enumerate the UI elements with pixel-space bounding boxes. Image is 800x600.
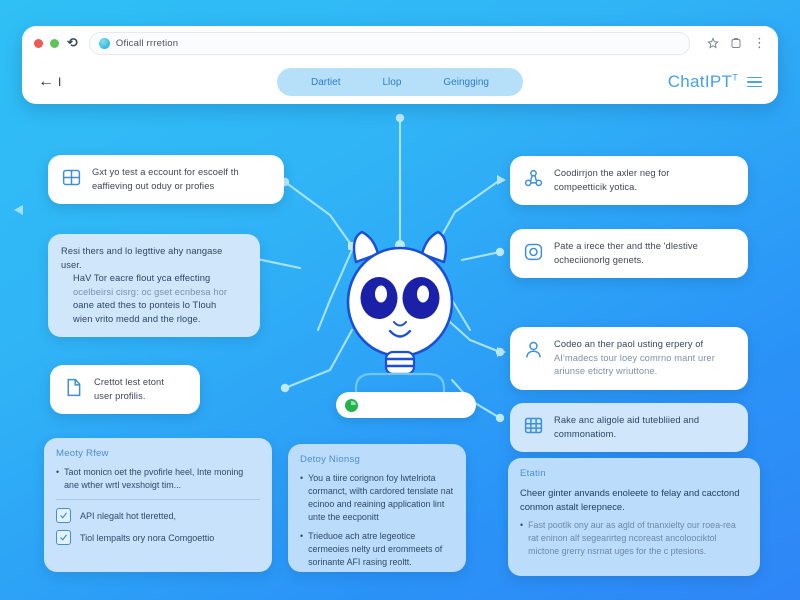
card-line: Codeo an ther paol usting erpery of <box>554 338 735 352</box>
panel-bullet: • Trieduoe ach atre legeotice cermeoies … <box>300 530 454 569</box>
card-subline: wien vrito medd and the rloge. <box>73 313 247 327</box>
card-line: compeetticik yotica. <box>554 181 735 195</box>
window-maximize-button[interactable] <box>50 39 59 48</box>
panel-bullet: • Fast pootlk ony aur as agld of tnanxie… <box>520 519 748 558</box>
bullet-text: Trieduoe ach atre legeotice cermeoies ne… <box>308 530 454 569</box>
panel-header: Detoy Nionsg <box>300 454 454 465</box>
card-right-3[interactable]: Codeo an ther paol usting erpery of AI'm… <box>510 327 748 390</box>
card-subline: ariunse etictry wriuttone. <box>554 365 735 379</box>
card-line: eaffieving out oduy or profies <box>92 180 271 194</box>
card-right-1-body: Coodirrjon the axler neg for compeettici… <box>554 167 735 194</box>
card-line: Resi thers and lo legttive ahy nangase <box>61 245 247 259</box>
browser-window: ⟳ Oficall rrretion ⋮ ←I Dartiet <box>22 26 778 104</box>
panel-bullet: • Taot monicn oet the pvofirle heel, Int… <box>56 466 260 492</box>
green-status-icon <box>345 399 358 412</box>
tab-bar: Dartiet Llop Geingging <box>277 68 523 96</box>
document-page-icon <box>63 377 84 398</box>
app-toolbar: ←I Dartiet Llop Geingging ChatIPTT <box>22 60 778 104</box>
bookmark-star-icon[interactable] <box>707 37 719 49</box>
card-line: Pate a irece ther and tthe 'dlestive <box>554 240 735 254</box>
panel-header: Meoty Rfew <box>56 448 260 459</box>
card-left-3-body: Crettot lest etont user profilis. <box>94 376 187 403</box>
bullet-text: Taot monicn oet the pvofirle heel, Inte … <box>64 466 260 492</box>
card-subline: AI'madecs tour loey comrno mant urer <box>554 352 735 366</box>
card-line: Coodirrjon the axler neg for <box>554 167 735 181</box>
card-right-1[interactable]: Coodirrjon the axler neg for compeettici… <box>510 156 748 205</box>
card-right-4[interactable]: Rake anc aligole aid tutebliied and comm… <box>510 403 748 452</box>
card-right-3-body: Codeo an ther paol usting erpery of AI'm… <box>554 338 735 379</box>
bullet-marker: • <box>56 466 59 492</box>
bullet-marker: • <box>300 530 303 569</box>
panel-strong-text: Cheer ginter anvands enoleete to felay a… <box>520 486 748 513</box>
card-line: Gxt yo test a eccount for escoelf th <box>92 166 271 180</box>
checkbox-checked-icon[interactable] <box>56 508 71 523</box>
network-nodes-icon <box>523 168 544 189</box>
address-bar[interactable]: Oficall rrretion <box>89 32 690 55</box>
window-close-button[interactable] <box>34 39 43 48</box>
back-button-label: I <box>58 75 61 89</box>
site-favicon <box>99 38 110 49</box>
card-subline: ocelbeirsi cisrg: oc gset ecnbesa hor <box>73 286 247 300</box>
card-line: Rake anc aligole aid tutebliied and <box>554 414 735 428</box>
tab-llop[interactable]: Llop <box>382 77 401 88</box>
infographic-stage: ⟳ Oficall rrretion ⋮ ←I Dartiet <box>0 0 800 600</box>
tab-geingging[interactable]: Geingging <box>443 77 489 88</box>
panel-memory-view[interactable]: Meoty Rfew • Taot monicn oet the pvofirl… <box>44 438 272 572</box>
brand-title: ChatIPTT <box>668 72 738 92</box>
card-subline: HaV Tor eacre flout yca effecting <box>73 272 247 286</box>
checkbox-checked-icon[interactable] <box>56 530 71 545</box>
card-left-1-body: Gxt yo test a eccount for escoelf th eaf… <box>92 166 271 193</box>
card-right-2-body: Pate a irece ther and tthe 'dlestive och… <box>554 240 735 267</box>
back-button[interactable]: ←I <box>38 73 61 91</box>
browser-chrome-bar: ⟳ Oficall rrretion ⋮ <box>22 26 778 60</box>
card-left-2-body: Resi thers and lo legttive ahy nangase u… <box>61 245 247 326</box>
card-right-4-body: Rake anc aligole aid tutebliied and comm… <box>554 414 735 441</box>
camera-icon <box>523 241 544 262</box>
address-bar-text: Oficall rrretion <box>116 38 178 49</box>
reload-icon[interactable]: ⟳ <box>67 35 78 51</box>
tab-dartiet[interactable]: Dartiet <box>311 77 340 88</box>
card-left-1[interactable]: Gxt yo test a eccount for escoelf th eaf… <box>48 155 284 204</box>
robot-mascot <box>310 218 490 418</box>
card-right-2[interactable]: Pate a irece ther and tthe 'dlestive och… <box>510 229 748 278</box>
card-line: user profilis. <box>94 390 187 404</box>
panel-divider <box>56 499 260 500</box>
card-line: user. <box>61 259 247 273</box>
card-line: Crettot lest etont <box>94 376 187 390</box>
card-subline: oane ated thes to ponteis lo Tlouh <box>73 299 247 313</box>
extension-icon[interactable] <box>730 37 742 49</box>
card-line: commonatiom. <box>554 428 735 442</box>
kebab-menu-icon[interactable]: ⋮ <box>753 39 766 47</box>
table-grid-icon <box>523 415 544 436</box>
panel-bullet: • You a tiire corignon foy lwtelriota co… <box>300 472 454 524</box>
person-icon <box>523 339 544 360</box>
bullet-text: You a tiire corignon foy lwtelriota corm… <box>308 472 454 524</box>
checkbox-label: Tiol lempalts ory nora Comgoettio <box>80 533 214 543</box>
checkbox-row[interactable]: Tiol lempalts ory nora Comgoettio <box>56 530 260 545</box>
panel-header: Etatin <box>520 468 748 479</box>
checkbox-row[interactable]: API nlegalt hot tleretted, <box>56 508 260 523</box>
window-grid-icon <box>61 167 82 188</box>
panel-detoy-nionsg[interactable]: Detoy Nionsg • You a tiire corignon foy … <box>288 444 466 572</box>
brand-area: ChatIPTT <box>668 72 762 92</box>
chat-input-pill[interactable] <box>336 392 476 418</box>
bullet-marker: • <box>300 472 303 524</box>
card-left-3[interactable]: Crettot lest etont user profilis. <box>50 365 200 414</box>
card-line: ocheciionorlg genets. <box>554 254 735 268</box>
panel-etatin[interactable]: Etatin Cheer ginter anvands enoleete to … <box>508 458 760 576</box>
checkbox-label: API nlegalt hot tleretted, <box>80 511 176 521</box>
bullet-text: Fast pootlk ony aur as agld of tnanxielt… <box>528 519 748 558</box>
hamburger-icon[interactable] <box>747 77 762 88</box>
bullet-marker: • <box>520 519 523 558</box>
card-left-2[interactable]: Resi thers and lo legttive ahy nangase u… <box>48 234 260 337</box>
browser-actions: ⋮ <box>697 37 766 49</box>
